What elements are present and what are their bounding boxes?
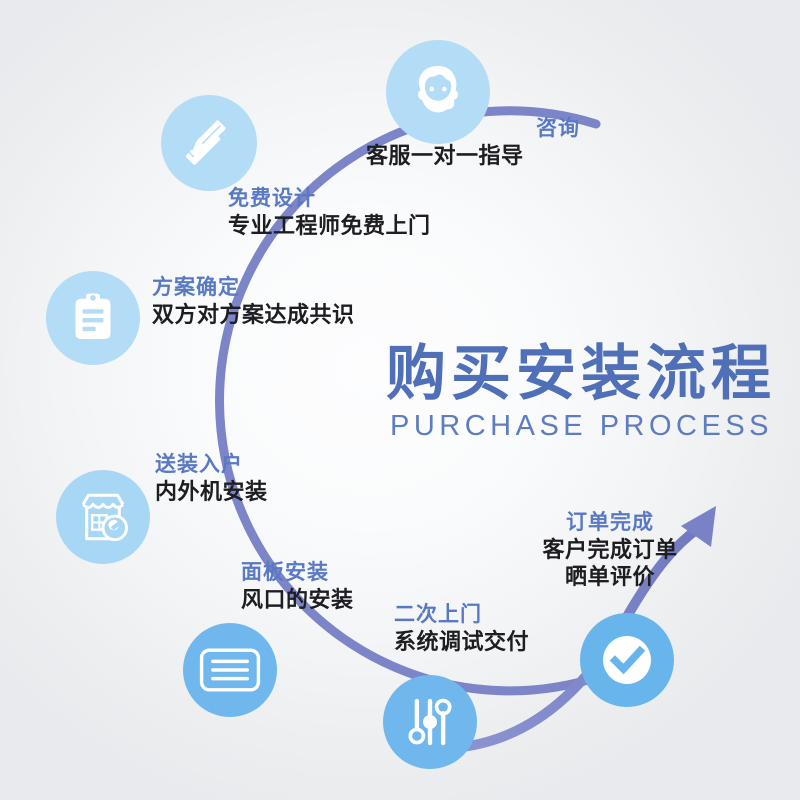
node-plan-confirm[interactable] [46, 271, 140, 365]
page-title: 购买安装流程 PURCHASE PROCESS [386, 342, 786, 447]
label-plan-confirm-desc: 双方对方案达成共识 [152, 301, 355, 328]
label-consultation: 咨询 客服一对一指导 [366, 116, 586, 169]
label-second-visit-desc: 系统调试交付 [394, 628, 529, 655]
label-free-design: 免费设计 专业工程师免费上门 [228, 186, 431, 239]
label-delivery-install: 送装入户 内外机安装 [155, 452, 268, 505]
node-second-visit[interactable] [383, 675, 477, 769]
label-order-complete-desc: 客户完成订单 [500, 536, 720, 563]
label-plan-confirm-title: 方案确定 [152, 275, 355, 301]
ruler-pencil-icon [179, 113, 239, 173]
label-free-design-title: 免费设计 [228, 186, 431, 212]
label-second-visit: 二次上门 系统调试交付 [394, 602, 529, 655]
clipboard-icon [65, 290, 121, 346]
headset-operator-icon [407, 61, 469, 123]
label-second-visit-title: 二次上门 [394, 602, 529, 628]
label-free-design-desc: 专业工程师免费上门 [228, 212, 431, 239]
node-free-design[interactable] [161, 95, 257, 191]
node-delivery-install[interactable] [56, 470, 150, 564]
shop-wrench-icon [74, 488, 132, 546]
check-circle-icon [593, 626, 661, 694]
air-vent-panel-icon [199, 647, 261, 693]
label-order-complete-title: 订单完成 [500, 510, 720, 536]
label-plan-confirm: 方案确定 双方对方案达成共识 [152, 275, 355, 328]
label-panel-install-title: 面板安装 [241, 560, 354, 586]
page-title-cn: 购买安装流程 [386, 342, 786, 405]
label-panel-install-desc: 风口的安装 [241, 586, 354, 613]
label-panel-install: 面板安装 风口的安装 [241, 560, 354, 613]
label-order-complete: 订单完成 客户完成订单 晒单评价 [500, 510, 720, 591]
infographic-canvas: 咨询 客服一对一指导 [0, 0, 800, 800]
page-title-en: PURCHASE PROCESS [386, 405, 786, 447]
label-consultation-desc: 客服一对一指导 [366, 142, 586, 169]
node-order-complete[interactable] [580, 613, 674, 707]
label-delivery-install-desc: 内外机安装 [155, 478, 268, 505]
sliders-icon [402, 694, 458, 750]
node-panel-install[interactable] [183, 623, 277, 717]
label-delivery-install-title: 送装入户 [155, 452, 268, 478]
label-consultation-title: 咨询 [366, 116, 586, 142]
label-order-complete-desc2: 晒单评价 [500, 563, 720, 590]
